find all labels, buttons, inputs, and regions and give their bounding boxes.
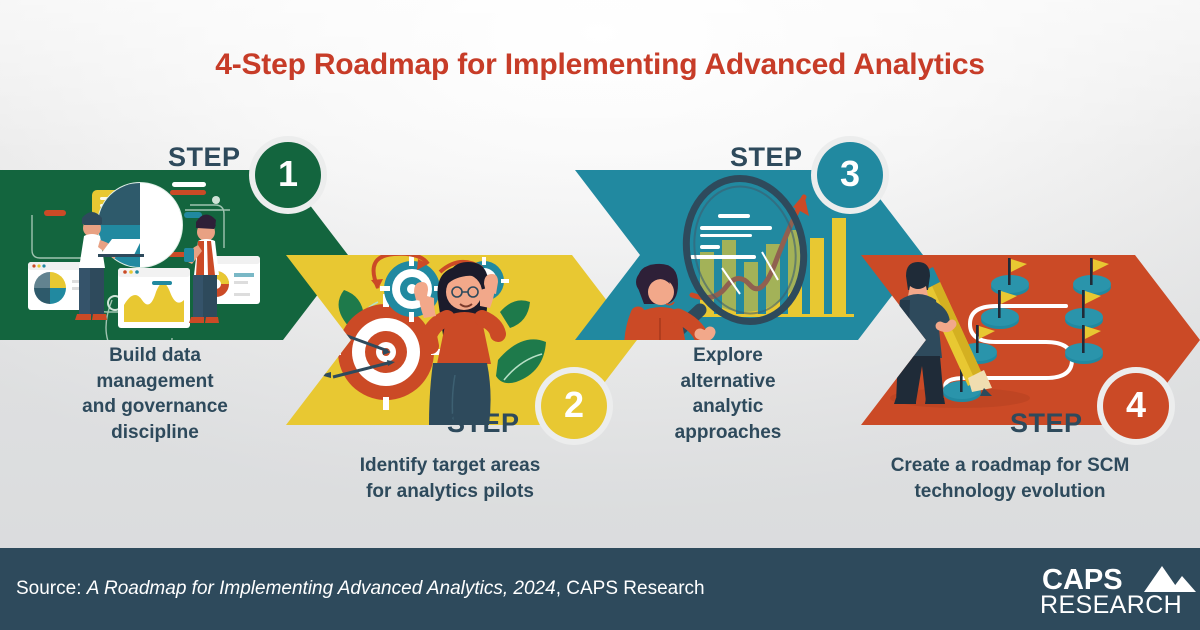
- step-4-label: STEP: [1010, 408, 1083, 439]
- step-2-caption-line-1: Identify target areas: [305, 453, 595, 479]
- step-4-badge[interactable]: 4: [1103, 373, 1169, 439]
- step-4-caption: Create a roadmap for SCM technology evol…: [845, 453, 1175, 504]
- step-1-badge[interactable]: 1: [255, 142, 321, 208]
- step-1-caption-line-1: Build data: [20, 343, 290, 369]
- step-2-caption: Identify target areas for analytics pilo…: [305, 453, 595, 504]
- footer-bar: Source: A Roadmap for Implementing Advan…: [0, 548, 1200, 630]
- step-1-caption-line-2: management: [20, 369, 290, 395]
- step-3-caption-line-1: Explore: [618, 343, 838, 369]
- step-2-label: STEP: [447, 408, 520, 439]
- source-title: A Roadmap for Implementing Advanced Anal…: [87, 578, 556, 599]
- mountain-peaks-icon: [1144, 566, 1196, 592]
- step-3-label: STEP: [730, 142, 803, 173]
- logo-research-text: RESEARCH: [1040, 591, 1182, 619]
- step-2-badge[interactable]: 2: [541, 373, 607, 439]
- infographic-canvas: 4-Step Roadmap for Implementing Advanced…: [0, 0, 1200, 630]
- caps-research-logo[interactable]: CAPS RESEARCH: [1040, 560, 1200, 620]
- source-citation: Source: A Roadmap for Implementing Advan…: [16, 578, 705, 600]
- step-3-caption-line-4: approaches: [618, 420, 838, 446]
- step-1-caption: Build data management and governance dis…: [20, 343, 290, 446]
- step-4-caption-line-2: technology evolution: [845, 479, 1175, 505]
- step-3-caption-line-3: analytic: [618, 394, 838, 420]
- step-3-badge[interactable]: 3: [817, 142, 883, 208]
- step-1-caption-line-3: and governance: [20, 394, 290, 420]
- step-4-caption-line-1: Create a roadmap for SCM: [845, 453, 1175, 479]
- step-3-caption-line-2: alternative: [618, 369, 838, 395]
- step-2-caption-line-2: for analytics pilots: [305, 479, 595, 505]
- step-1-caption-line-4: discipline: [20, 420, 290, 446]
- step-3-caption: Explore alternative analytic approaches: [618, 343, 838, 446]
- source-suffix: , CAPS Research: [556, 578, 705, 599]
- source-prefix: Source:: [16, 578, 87, 599]
- step-1-label: STEP: [168, 142, 241, 173]
